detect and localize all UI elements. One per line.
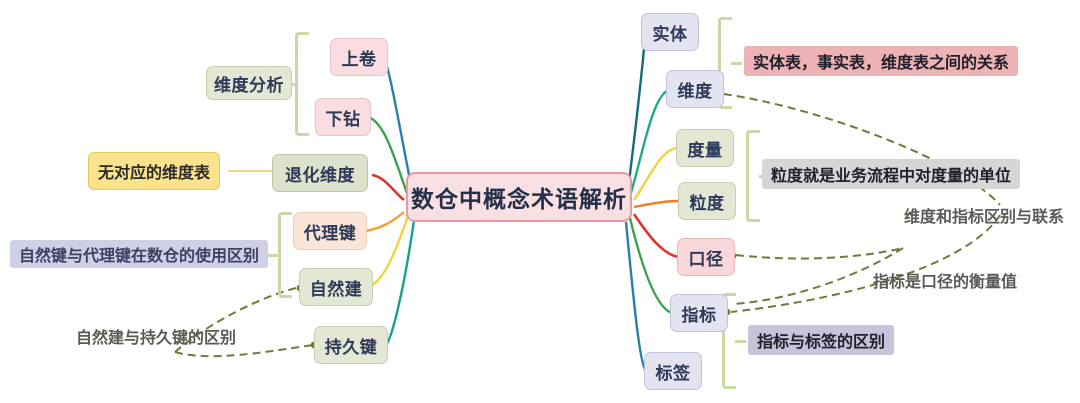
node-chijiujian[interactable]: 持久键 [314,326,388,364]
dashed-koujing-to-zhibiao [736,248,903,259]
bracket-weidufenxi [295,32,309,136]
node-xiazuan[interactable]: 下钻 [315,98,371,136]
node-zirianjian[interactable]: 自然建 [299,268,373,306]
dashed-weiduzhibiao-tail [731,215,1000,312]
note-chijiu: 自然建与持久键的区别 [67,324,245,348]
note-lidu[interactable]: 粒度就是业务流程中对度量的单位 [762,159,1020,189]
node-duliang[interactable]: 度量 [676,129,734,167]
node-weidu[interactable]: 维度 [666,70,724,108]
note-wuduiying[interactable]: 无对应的维度表 [88,152,220,190]
bracket-zirankey [278,212,292,298]
wire-center-to-koujing [634,214,679,257]
bracket-stub-zhibiaobiaoqian [735,340,746,343]
wire-center-to-xiazuan [368,117,408,196]
note-zirankey[interactable]: 自然键与代理键在数仓的使用区别 [10,240,268,268]
bracket-lidu [746,130,760,222]
node-lidu[interactable]: 粒度 [678,182,736,220]
node-zhibiao[interactable]: 指标 [670,294,728,332]
wire-center-to-weidu [630,90,669,196]
node-shiti[interactable]: 实体 [641,13,699,51]
note-weiduzhibiao: 维度和指标区别与联系 [895,203,1073,227]
note-zhibiaokoujing: 指标是口径的衡量值 [864,268,1026,292]
node-tuihuaweidu[interactable]: 退化维度 [272,154,368,192]
wire-center-to-dailijian [365,212,404,231]
note-zhibiaobiaoqian[interactable]: 指标与标签的区别 [748,325,894,355]
wire-center-to-duliang [634,148,676,200]
wire-center-to-shiti [628,33,645,190]
node-dailijian[interactable]: 代理键 [293,212,367,250]
wire-center-to-zirianjian [369,216,408,287]
wire-center-to-shangjuan [384,58,412,190]
node-weidufenxi[interactable]: 维度分析 [206,66,292,100]
node-biaoqian[interactable]: 标签 [644,352,702,390]
note-shititable[interactable]: 实体表，事实表，维度表之间的关系 [744,46,1018,76]
bracket-stub-zirankey [268,254,279,257]
wire-center-to-tuihuaweidu [372,175,404,200]
wire-center-to-lidu [634,201,678,207]
bracket-stub-shititable [731,62,742,65]
wire-center-to-biaoqian [626,222,646,371]
node-koujing[interactable]: 口径 [677,238,735,276]
center-node[interactable]: 数仓中概念术语解析 [406,172,632,222]
mindmap-canvas: 数仓中概念术语解析 上卷 下钻 退化维度 代理键 自然建 持久键 维度分析 实体… [0,0,1080,403]
wire-center-to-zhibiao [630,218,672,313]
node-shangjuan[interactable]: 上卷 [330,38,388,76]
wire-center-to-chijiujian [386,220,414,345]
